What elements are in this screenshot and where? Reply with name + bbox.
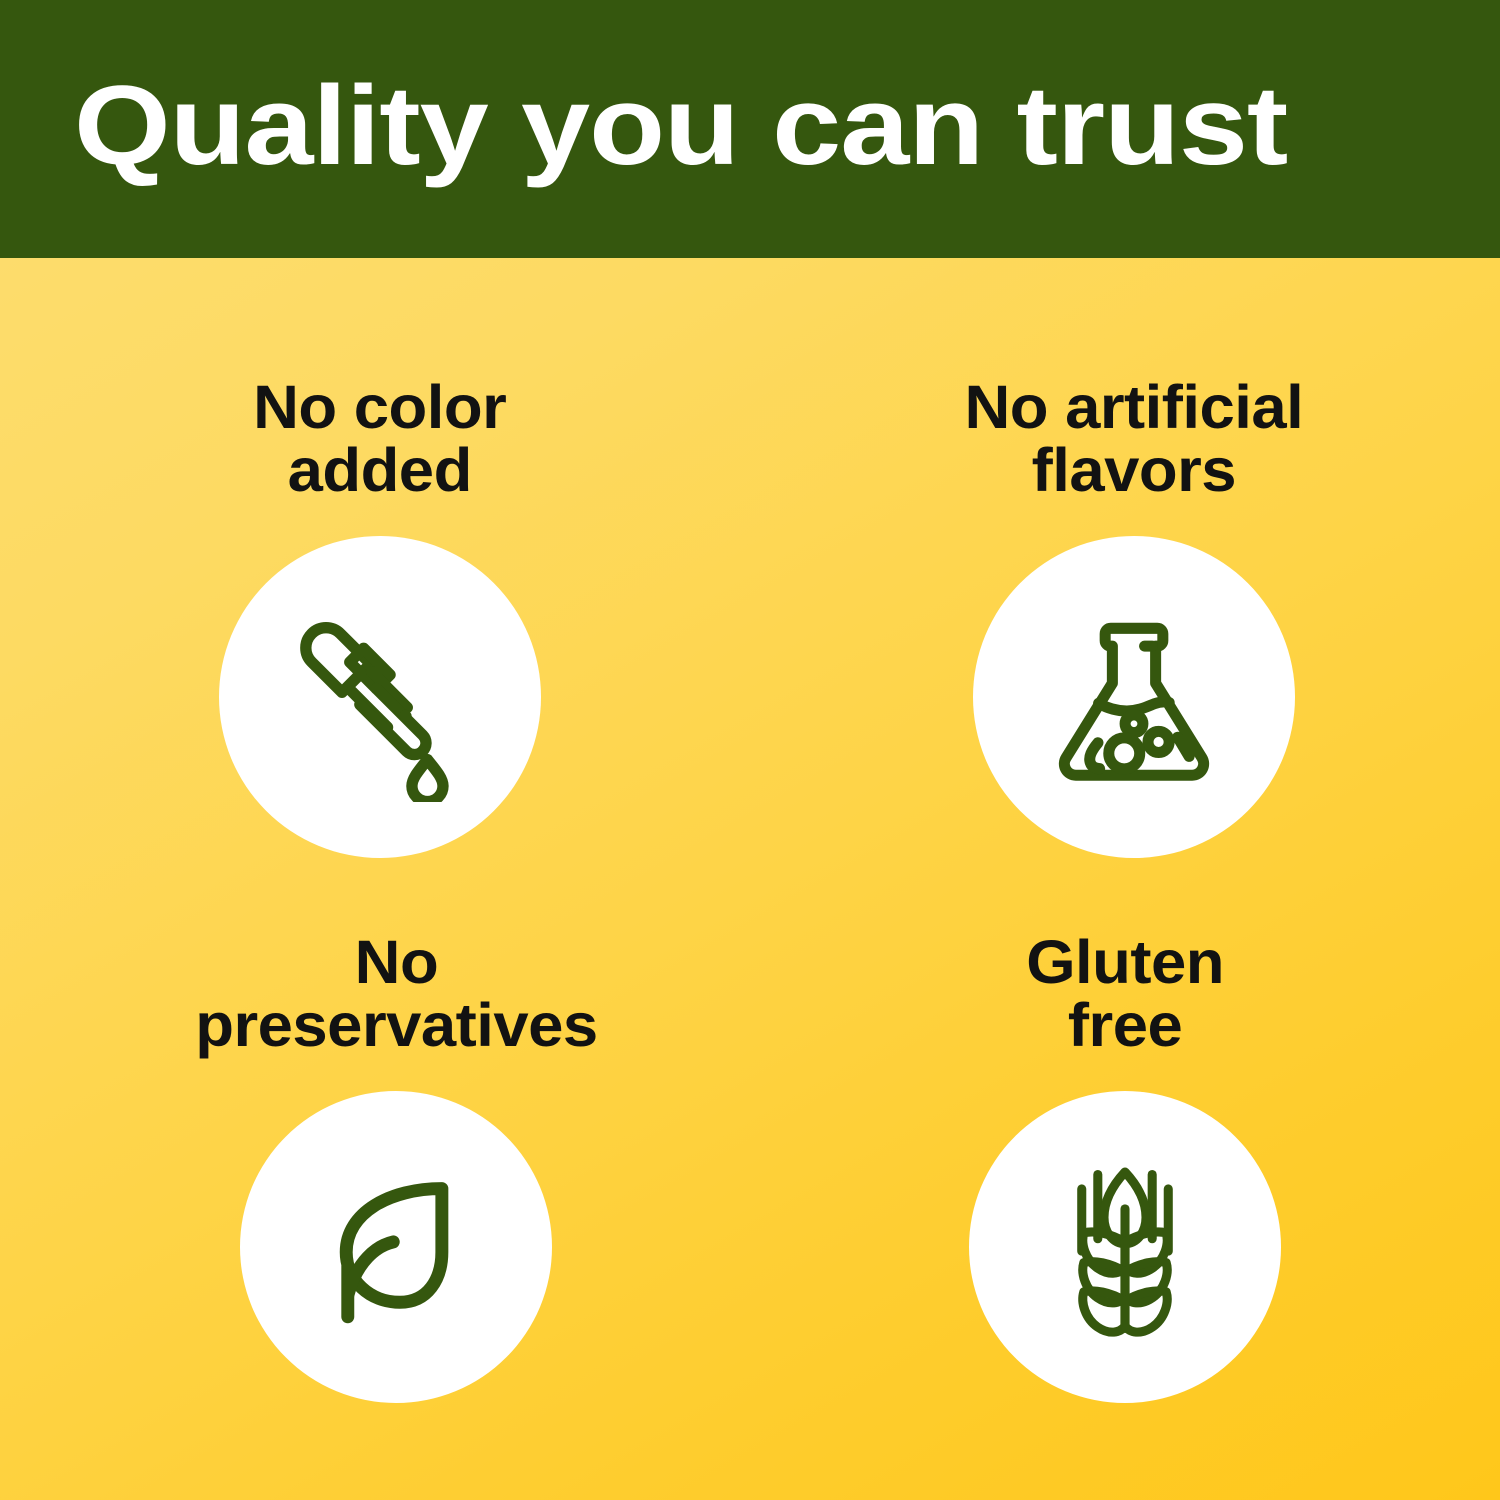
badge-icon-circle — [969, 1091, 1281, 1403]
badge-label: No color added — [253, 376, 506, 502]
badge-no-preservatives: No preservatives — [0, 879, 750, 1500]
leaf-icon — [298, 1149, 494, 1345]
badge-icon-circle — [219, 536, 541, 858]
dropper-icon — [275, 592, 485, 802]
badge-label: No preservatives — [195, 931, 597, 1057]
badge-label-line1: No color — [253, 373, 506, 441]
badge-label-line1: No — [354, 928, 438, 996]
badge-label-line1: Gluten — [1026, 928, 1224, 996]
page-title: Quality you can trust — [74, 70, 1287, 182]
badge-icon-circle — [973, 536, 1295, 858]
badge-no-color-added: No color added — [0, 258, 750, 879]
flask-icon — [1028, 591, 1240, 803]
badge-label-line1: No artificial — [965, 373, 1304, 441]
badge-label: Gluten free — [1026, 931, 1224, 1057]
badge-gluten-free: Gluten free — [750, 879, 1500, 1500]
badge-icon-circle — [240, 1091, 552, 1403]
badge-label-line2: added — [288, 436, 472, 504]
badge-label-line2: preservatives — [195, 991, 597, 1059]
promo-graphic: Quality you can trust No color added — [0, 0, 1500, 1500]
wheat-icon — [1022, 1144, 1228, 1350]
header-banner: Quality you can trust — [0, 0, 1500, 258]
badge-grid: No color added — [0, 258, 1500, 1500]
badge-no-artificial-flavors: No artificial flavors — [750, 258, 1500, 879]
badge-label-line2: free — [1068, 991, 1182, 1059]
badge-label-line2: flavors — [1032, 436, 1236, 504]
badge-label: No artificial flavors — [965, 376, 1304, 502]
